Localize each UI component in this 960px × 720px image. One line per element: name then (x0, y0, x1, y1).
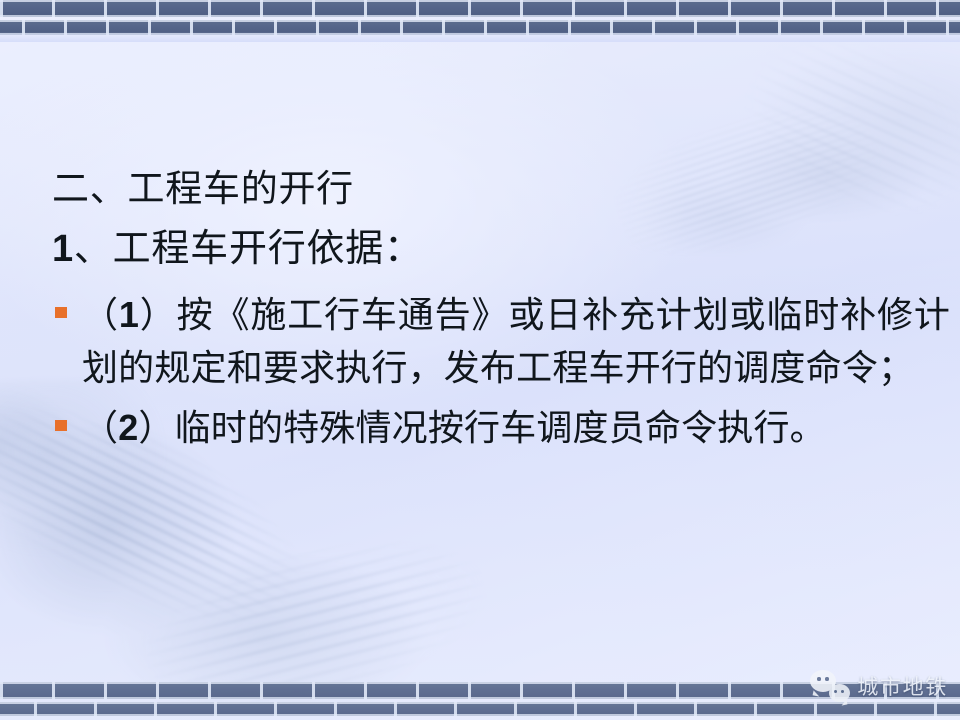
item-number: 2 (118, 407, 138, 448)
item-body: 临时的特殊情况按行车调度员命令执行。 (175, 408, 826, 449)
brick-row (0, 702, 960, 716)
list-item: （2）临时的特殊情况按行车调度员命令执行。 (50, 401, 950, 455)
paren-open: （ (82, 408, 118, 449)
paren-open: （ (82, 295, 119, 336)
section-heading: 二、工程车的开行 (52, 166, 354, 212)
watermark: 城市地铁 (810, 670, 948, 702)
bubble-dot (817, 677, 821, 681)
square-bullet-icon (55, 420, 67, 431)
presentation-slide: 二、工程车的开行 1、工程车开行依据： （1）按《施工行车通告》或日补充计划或临… (0, 0, 960, 720)
speech-bubble-small (829, 684, 850, 702)
paren-close: ） (138, 408, 174, 449)
item-body: 按《施工行车通告》或日补充计划或临时补修计划的规定和要求执行，发布工程车开行的调… (82, 295, 950, 389)
bubble-dot (825, 677, 829, 681)
watermark-label: 城市地铁 (857, 671, 948, 701)
square-bullet-icon (55, 307, 67, 318)
subsection-heading-text: 、工程车开行依据： (74, 226, 423, 270)
paren-close: ） (139, 295, 177, 336)
slide-content: 二、工程车的开行 1、工程车开行依据： （1）按《施工行车通告》或日补充计划或临… (0, 0, 960, 720)
item-number: 1 (119, 294, 139, 335)
wechat-icon (810, 670, 850, 702)
list-item-text: （2）临时的特殊情况按行车调度员命令执行。 (82, 401, 950, 455)
subsection-number: 1 (52, 228, 74, 270)
bubble-tail (813, 690, 821, 696)
list-item: （1）按《施工行车通告》或日补充计划或临时补修计划的规定和要求执行，发布工程车开… (50, 288, 950, 395)
bullet-list: （1）按《施工行车通告》或日补充计划或临时补修计划的规定和要求执行，发布工程车开… (50, 288, 950, 461)
list-item-text: （1）按《施工行车通告》或日补充计划或临时补修计划的规定和要求执行，发布工程车开… (82, 288, 950, 395)
subsection-heading: 1、工程车开行依据： (52, 224, 423, 273)
